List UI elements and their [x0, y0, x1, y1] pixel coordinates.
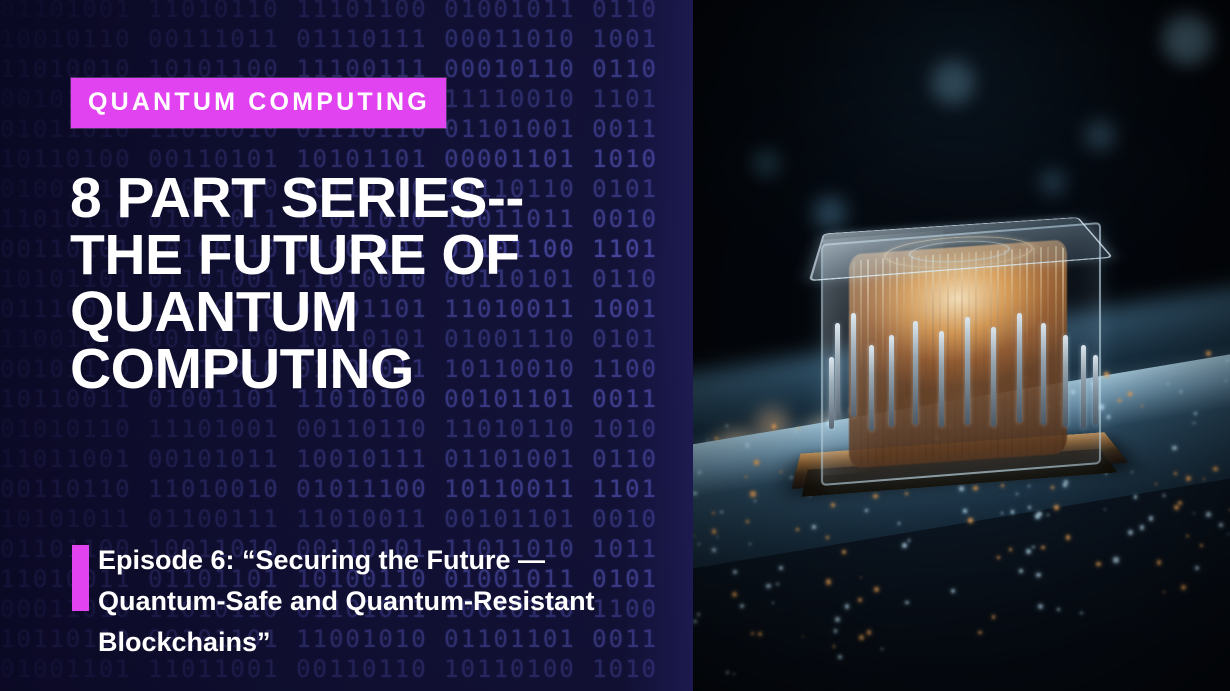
board-speck	[1213, 467, 1218, 472]
board-speck	[1096, 562, 1100, 566]
board-speck	[1032, 546, 1034, 548]
board-speck	[726, 671, 729, 674]
title-line-4: COMPUTING	[70, 341, 610, 398]
board-speck	[1080, 612, 1083, 615]
board-speck	[1113, 557, 1118, 562]
board-speck	[707, 440, 709, 442]
board-speck	[796, 528, 799, 531]
board-speck	[712, 512, 714, 514]
quantum-processor-photo	[693, 0, 1230, 691]
board-speck	[720, 511, 722, 513]
board-speck	[842, 550, 846, 554]
board-speck	[826, 579, 831, 584]
board-speck	[1036, 573, 1041, 578]
board-speck	[746, 520, 749, 523]
category-banner: QUANTUM COMPUTING	[71, 78, 446, 128]
board-speck	[1019, 569, 1023, 573]
board-speck	[746, 443, 749, 446]
board-speck	[740, 604, 744, 608]
board-speck	[1141, 405, 1143, 407]
category-label: QUANTUM COMPUTING	[88, 90, 430, 115]
board-speck	[867, 630, 871, 634]
board-speck	[902, 543, 907, 548]
board-speck	[1041, 546, 1045, 550]
title-line-2: THE FUTURE OF	[70, 227, 610, 284]
board-speck	[772, 602, 774, 604]
board-speck	[712, 529, 716, 533]
board-speck	[1186, 535, 1189, 538]
board-speck	[845, 604, 850, 609]
board-speck	[1219, 523, 1223, 527]
board-speck	[1026, 549, 1031, 554]
board-speck	[1200, 544, 1204, 548]
board-speck	[780, 471, 782, 473]
board-speck	[833, 645, 836, 648]
board-speck	[749, 543, 751, 545]
board-speck	[1193, 422, 1195, 424]
board-speck	[859, 635, 864, 640]
board-speck	[1178, 501, 1182, 505]
processor-cube	[793, 195, 1133, 525]
board-speck	[772, 424, 776, 428]
board-speck	[1157, 560, 1162, 565]
board-speck	[693, 620, 696, 623]
board-speck	[1163, 494, 1165, 496]
board-speck	[951, 589, 955, 593]
board-speck	[835, 617, 840, 622]
board-speck	[1180, 390, 1183, 393]
board-speck	[874, 587, 879, 592]
board-speck	[860, 577, 862, 579]
board-speck	[732, 592, 737, 597]
board-speck	[1226, 359, 1229, 362]
board-speck	[1181, 585, 1186, 590]
accent-bar	[72, 545, 89, 611]
board-speck	[1066, 535, 1070, 539]
board-speck	[717, 536, 719, 538]
board-speck	[715, 437, 718, 440]
board-speck	[1203, 478, 1205, 480]
board-speck	[858, 598, 862, 602]
title-line-1: 8 PART SERIES--	[70, 170, 610, 227]
board-speck	[1225, 380, 1228, 383]
board-speck	[1038, 604, 1043, 609]
board-speck	[834, 629, 838, 633]
board-speck	[751, 632, 755, 636]
board-speck	[1172, 446, 1176, 450]
board-speck	[694, 535, 696, 537]
page-title: 8 PART SERIES-- THE FUTURE OF QUANTUM CO…	[70, 170, 610, 398]
board-speck	[712, 548, 716, 552]
board-speck	[1174, 472, 1177, 475]
board-speck	[1134, 495, 1138, 499]
board-speck	[1140, 525, 1144, 529]
board-speck	[1174, 505, 1179, 510]
presentation-slide: 01101001 11010110 11101100 01001011 0110…	[0, 0, 1230, 691]
board-speck	[908, 539, 910, 541]
board-speck	[1193, 513, 1195, 515]
board-speck	[1195, 566, 1199, 570]
board-speck	[1128, 530, 1133, 535]
board-speck	[693, 492, 697, 496]
board-speck	[779, 566, 783, 570]
board-speck	[1206, 351, 1211, 356]
binary-row: 00110110 11010010 01011100 10110011 1101	[0, 474, 693, 504]
board-speck	[802, 636, 804, 638]
binary-row: 11011001 00101011 10010111 01101001 0110	[0, 444, 693, 474]
board-speck	[838, 655, 842, 659]
board-speck	[1206, 512, 1210, 516]
board-speck	[698, 471, 701, 474]
board-speck	[997, 556, 1000, 559]
board-speck	[749, 448, 751, 450]
binary-row: 10101011 01100111 11010011 00101101 0010	[0, 504, 693, 534]
board-speck	[1009, 548, 1012, 551]
board-speck	[754, 460, 759, 465]
binary-row: 01101001 11010110 11101100 01001011 0110	[0, 0, 693, 24]
board-speck	[733, 673, 735, 675]
board-speck	[826, 536, 829, 539]
board-speck	[776, 583, 779, 586]
board-speck	[1149, 516, 1154, 521]
board-speck	[754, 500, 756, 502]
board-speck	[992, 615, 995, 618]
title-line-3: QUANTUM	[70, 284, 610, 341]
board-speck	[766, 584, 771, 589]
binary-row: 01010110 11101001 00110110 11010110 1010	[0, 414, 693, 444]
board-speck	[758, 632, 762, 636]
board-speck	[1163, 591, 1165, 593]
board-speck	[1057, 608, 1060, 611]
binary-row: 10010110 00111011 01110111 00011010 1001	[0, 24, 693, 54]
board-speck	[726, 425, 728, 427]
board-speck	[812, 525, 817, 530]
episode-subtitle-block: Episode 6: “Securing the Future — Quantu…	[72, 540, 672, 663]
board-speck	[697, 613, 700, 616]
board-speck	[978, 631, 982, 635]
board-speck	[1228, 533, 1230, 535]
board-speck	[905, 601, 909, 605]
board-speck	[750, 491, 755, 496]
board-speck	[881, 648, 883, 650]
board-speck	[745, 476, 747, 478]
board-speck	[1155, 483, 1157, 485]
board-speck	[1167, 383, 1169, 385]
board-speck	[1194, 412, 1197, 415]
episode-subtitle: Episode 6: “Securing the Future — Quantu…	[98, 540, 672, 663]
board-speck	[1186, 476, 1191, 481]
board-speck	[698, 543, 700, 545]
board-speck	[733, 570, 737, 574]
